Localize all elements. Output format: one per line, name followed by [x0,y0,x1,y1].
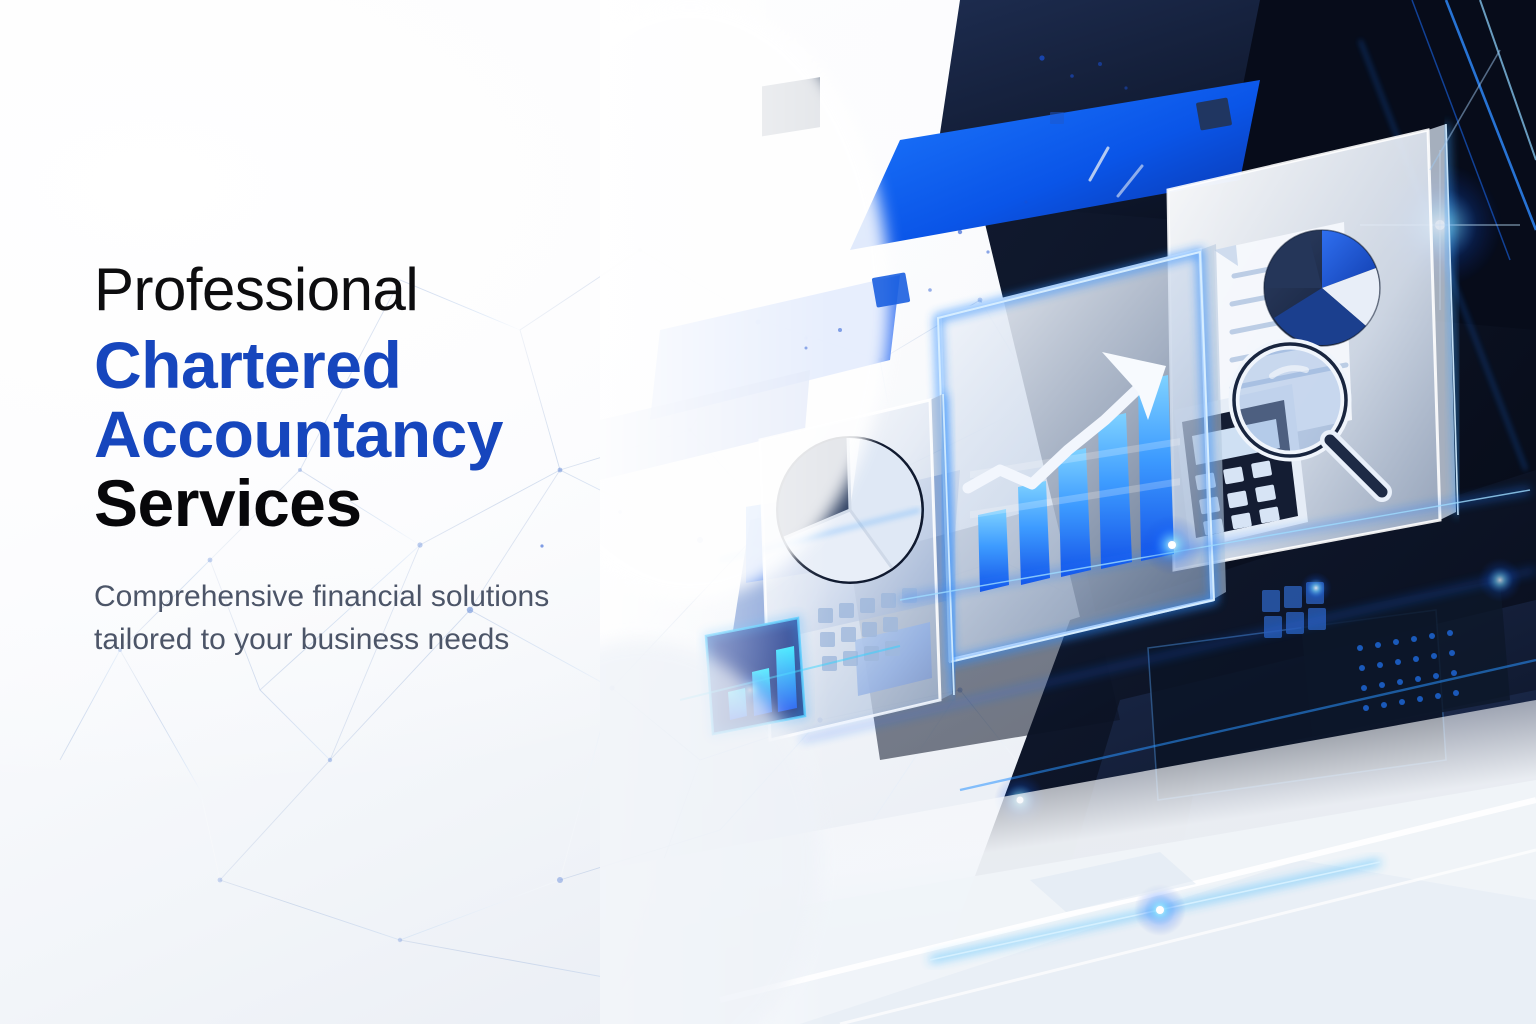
growth-chart-card [938,244,1226,662]
trending-up-arrow-icon [968,352,1166,488]
bar-chart-icon [970,375,1180,592]
pie-chart-icon [778,438,922,582]
finance-3d-illustration [600,0,1536,1024]
headline-line-2: Chartered [94,331,734,400]
pie-chart-icon [1264,230,1380,346]
dot-grid [1357,630,1459,711]
subheadline-line-1: Comprehensive financial solutions [94,575,654,619]
circuit-panels [1148,572,1510,800]
subheadline-line-2: tailored to your business needs [94,618,654,662]
magnifier-icon [1234,344,1382,492]
document-icon [1214,222,1352,448]
subheadline: Comprehensive financial solutions tailor… [94,575,654,662]
dark-geometry-backdrop [850,0,1536,1024]
bottom-light-planes [600,700,1536,1024]
neon-rails [680,490,1536,826]
headline-line-3: Accountancy [94,400,734,469]
headline-line-4: Services [94,469,734,538]
audit-document-card [1168,124,1458,570]
headline-line-1: Professional [94,258,734,323]
grid-squares-icon [818,588,917,671]
calculator-icon [1174,384,1308,550]
neon-streaks [1360,0,1536,470]
hero-copy: Professional Chartered Accountancy Servi… [94,258,734,662]
hero-banner: Professional Chartered Accountancy Servi… [0,0,1536,1024]
window-squares [1262,582,1326,638]
pie-chart-card [760,394,954,740]
